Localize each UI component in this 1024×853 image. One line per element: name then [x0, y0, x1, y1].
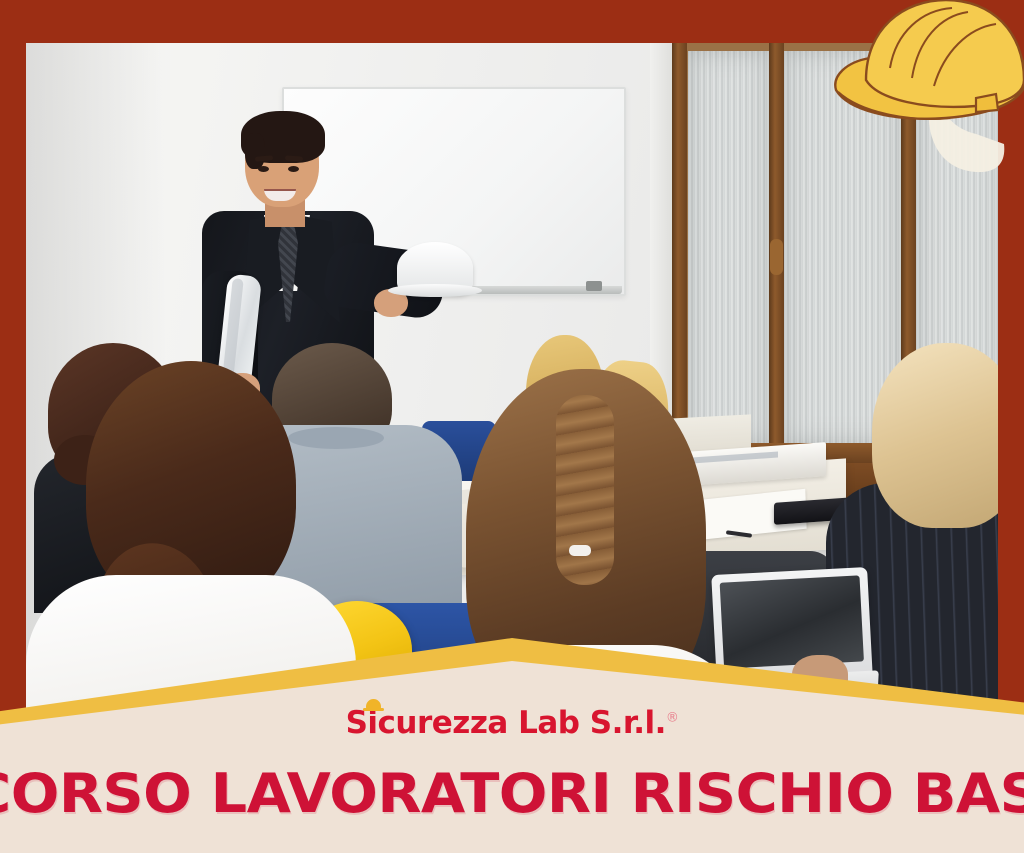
attendee-braid — [556, 395, 614, 585]
company-logo-inner: Sicurezza Lab S.r.l.® — [346, 705, 679, 741]
poster-canvas: Sicurezza Lab S.r.l.® CORSO LAVORATORI R… — [0, 0, 1024, 853]
instructor-eye-right — [288, 166, 299, 172]
instructor-eye-left — [258, 166, 269, 172]
hard-hat-illustration — [826, 0, 1024, 180]
company-logo: Sicurezza Lab S.r.l.® — [0, 705, 1024, 741]
poster-title: CORSO LAVORATORI RISCHIO BASSO — [0, 762, 1024, 825]
window-handle — [770, 239, 783, 275]
company-logo-text: icurezza Lab S.r.l. — [367, 705, 666, 741]
instructor-hair — [241, 111, 325, 163]
attendee-pinstripe-hair — [872, 343, 998, 528]
attendee-braid-band — [569, 545, 591, 556]
attendee-grey-jacket-collar — [288, 427, 384, 449]
whiteboard-clip — [586, 281, 602, 291]
white-hard-hat — [397, 242, 473, 294]
hard-hat-icon-svg — [826, 0, 1024, 180]
window-pane-1 — [688, 51, 770, 443]
laptop-screen — [720, 575, 864, 668]
registered-trademark-icon: ® — [666, 711, 679, 726]
hard-hat-icon — [366, 699, 381, 709]
